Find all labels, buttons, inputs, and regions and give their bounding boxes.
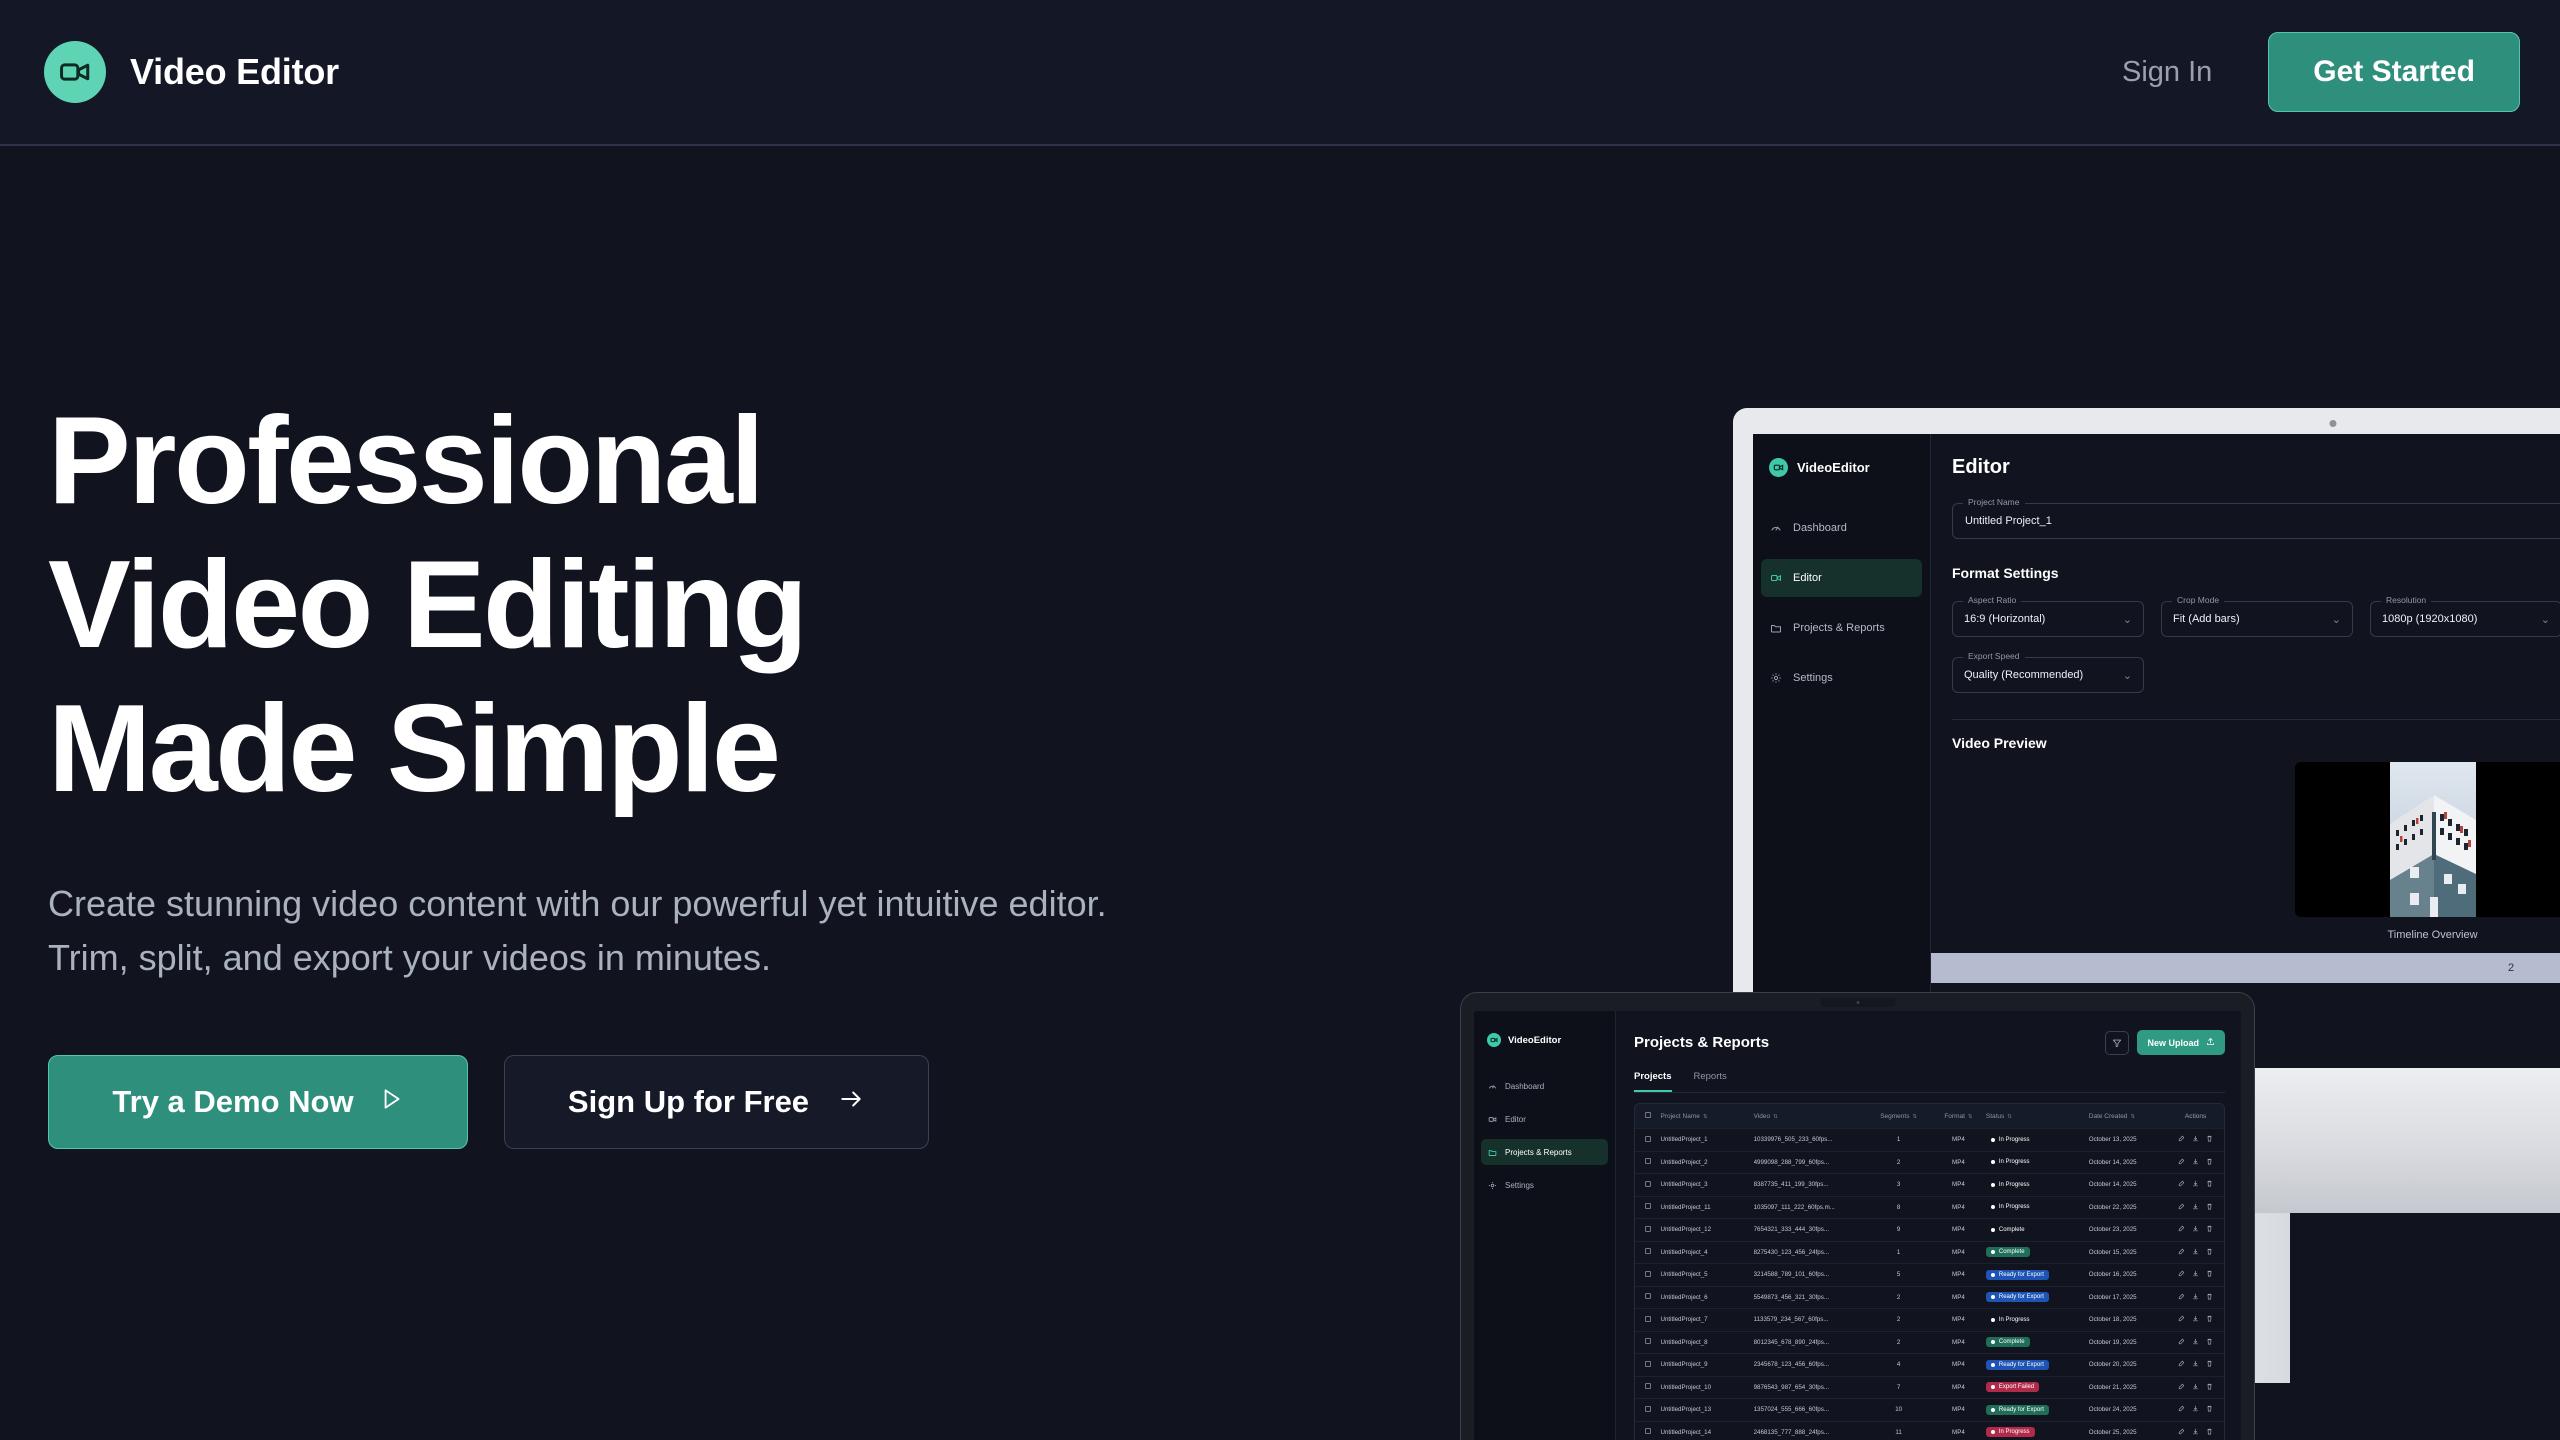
resolution-value: 1080p (1920x1080): [2382, 613, 2477, 625]
table-header-row: Project Name⇅ Video⇅ Segments⇅ Format⇅ S…: [1635, 1104, 2224, 1128]
landing-page: Video Editor Sign In Get Started Profess…: [0, 0, 2560, 1440]
cell-project-name: UntitledProject_2: [1660, 1159, 1753, 1166]
funnel-icon[interactable]: [2105, 1031, 2129, 1055]
cell-segments: 8: [1866, 1204, 1931, 1211]
row-checkbox[interactable]: [1635, 1271, 1660, 1279]
status-badge: In Progress: [1986, 1202, 2035, 1212]
edit-icon[interactable]: [2178, 1248, 2185, 1257]
column-video[interactable]: Video⇅: [1754, 1113, 1867, 1120]
table-row[interactable]: UntitledProject_24999098_288_799_60fps..…: [1635, 1151, 2224, 1174]
download-icon[interactable]: [2192, 1203, 2199, 1212]
cell-actions: [2167, 1360, 2224, 1369]
video-camera-icon: [44, 41, 106, 103]
cell-project-name: UntitledProject_10: [1660, 1384, 1753, 1391]
arrow-right-icon: [837, 1084, 865, 1120]
cell-date-created: October 20, 2025: [2089, 1361, 2167, 1368]
cell-date-created: October 23, 2025: [2089, 1226, 2167, 1233]
column-actions: Actions: [2167, 1113, 2224, 1120]
projects-app-screen: VideoEditor Dashboard Edi: [1474, 1011, 2241, 1440]
editor-page-title: Editor: [1952, 456, 2560, 479]
projects-brand-name: VideoEditor: [1508, 1035, 1561, 1046]
status-badge: Ready for Export: [1986, 1360, 2049, 1370]
sidebar-item-projects-reports[interactable]: Projects & Reports: [1761, 609, 1922, 647]
download-icon[interactable]: [2192, 1135, 2199, 1144]
cell-actions: [2167, 1428, 2224, 1437]
cell-actions: [2167, 1383, 2224, 1392]
cell-actions: [2167, 1405, 2224, 1414]
cell-date-created: October 19, 2025: [2089, 1339, 2167, 1346]
table-row[interactable]: UntitledProject_110339976_505_233_60fps.…: [1635, 1128, 2224, 1151]
cell-format: MP4: [1931, 1294, 1986, 1301]
sidebar-label: Editor: [1793, 572, 1822, 584]
site-header: Video Editor Sign In Get Started: [0, 0, 2560, 146]
sidebar-label: Dashboard: [1793, 522, 1847, 534]
table-row[interactable]: UntitledProject_88012345_678_890_24fps..…: [1635, 1331, 2224, 1354]
sidebar-item-editor[interactable]: Editor: [1761, 559, 1922, 597]
cell-video: 2345678_123_456_60fps...: [1754, 1361, 1867, 1368]
status-badge: In Progress: [1986, 1135, 2035, 1145]
editor-brand: VideoEditor: [1753, 458, 1930, 477]
cell-format: MP4: [1931, 1159, 1986, 1166]
delete-icon[interactable]: [2206, 1248, 2213, 1257]
hero-title-line-1: Professional: [48, 390, 1148, 534]
row-checkbox[interactable]: [1635, 1338, 1660, 1346]
get-started-button[interactable]: Get Started: [2268, 32, 2520, 112]
projects-brand: VideoEditor: [1474, 1033, 1615, 1047]
cell-project-name: UntitledProject_4: [1660, 1249, 1753, 1256]
cell-format: MP4: [1931, 1204, 1986, 1211]
cell-status: In Progress: [1986, 1427, 2089, 1437]
cell-actions: [2167, 1315, 2224, 1324]
sidebar-label: Editor: [1505, 1115, 1526, 1124]
cell-date-created: October 14, 2025: [2089, 1159, 2167, 1166]
header-actions: Sign In Get Started: [2122, 32, 2520, 112]
sort-icon: ⇅: [1912, 1114, 1917, 1120]
video-camera-icon: [1488, 1115, 1497, 1124]
cell-status: Complete: [1986, 1225, 2089, 1235]
sign-up-free-button[interactable]: Sign Up for Free: [504, 1055, 929, 1149]
cell-video: 2468135_777_888_24fps...: [1754, 1429, 1867, 1436]
cell-actions: [2167, 1158, 2224, 1167]
format-settings-row-2: Export Speed Quality (Recommended) ⌄: [1952, 641, 2560, 693]
download-icon[interactable]: [2192, 1270, 2199, 1279]
sidebar-item-dashboard[interactable]: Dashboard: [1761, 509, 1922, 547]
page-title: Professional Video Editing Made Simple: [48, 390, 1148, 821]
cell-video: 8012345_678_890_24fps...: [1754, 1339, 1867, 1346]
projects-sidebar: VideoEditor Dashboard Edi: [1474, 1011, 1616, 1440]
select-all-checkbox[interactable]: [1635, 1112, 1660, 1120]
download-icon[interactable]: [2192, 1158, 2199, 1167]
cell-project-name: UntitledProject_13: [1660, 1406, 1753, 1413]
chevron-down-icon: ⌄: [2541, 613, 2550, 626]
cell-project-name: UntitledProject_1: [1660, 1136, 1753, 1143]
cell-status: In Progress: [1986, 1202, 2089, 1212]
row-checkbox[interactable]: [1635, 1158, 1660, 1166]
projects-tabs: Projects Reports: [1634, 1071, 2225, 1093]
edit-icon[interactable]: [2178, 1203, 2185, 1212]
format-settings-heading: Format Settings: [1952, 565, 2560, 581]
try-demo-button[interactable]: Try a Demo Now: [48, 1055, 468, 1149]
row-checkbox[interactable]: [1635, 1316, 1660, 1324]
delete-icon[interactable]: [2206, 1293, 2213, 1302]
cell-video: 8387735_411_199_30fps...: [1754, 1181, 1867, 1188]
cell-project-name: UntitledProject_9: [1660, 1361, 1753, 1368]
cell-date-created: October 17, 2025: [2089, 1294, 2167, 1301]
project-name-field[interactable]: Project Name Untitled Project_1: [1952, 503, 2560, 539]
table-row[interactable]: UntitledProject_109876543_987_654_30fps.…: [1635, 1376, 2224, 1399]
download-icon[interactable]: [2192, 1180, 2199, 1189]
cell-status: In Progress: [1986, 1315, 2089, 1325]
download-icon[interactable]: [2192, 1383, 2199, 1392]
project-name-label: Project Name: [1963, 497, 2025, 507]
hero-cta-group: Try a Demo Now Sign Up for Free: [48, 1055, 1148, 1149]
cell-video: 4999098_288_799_60fps...: [1754, 1159, 1867, 1166]
sign-in-button[interactable]: Sign In: [2122, 56, 2212, 89]
download-icon[interactable]: [2192, 1360, 2199, 1369]
sidebar-item-settings[interactable]: Settings: [1481, 1172, 1608, 1198]
table-row[interactable]: UntitledProject_48275430_123_456_24fps..…: [1635, 1241, 2224, 1264]
laptop-lid: VideoEditor Dashboard Edi: [1460, 992, 2255, 1440]
editor-app-screen: VideoEditor Dashboard Editor: [1753, 434, 2560, 1068]
brand-logo[interactable]: Video Editor: [44, 41, 339, 103]
row-checkbox[interactable]: [1635, 1428, 1660, 1436]
cell-segments: 2: [1866, 1316, 1931, 1323]
download-icon[interactable]: [2192, 1293, 2199, 1302]
delete-icon[interactable]: [2206, 1383, 2213, 1392]
cell-actions: [2167, 1203, 2224, 1212]
cell-actions: [2167, 1248, 2224, 1257]
edit-icon[interactable]: [2178, 1270, 2185, 1279]
status-badge: Ready for Export: [1986, 1292, 2049, 1302]
status-badge: Export Failed: [1986, 1382, 2039, 1392]
cell-video: 5549873_456_321_30fps...: [1754, 1294, 1867, 1301]
gauge-icon: [1488, 1082, 1497, 1091]
sort-icon: ⇅: [2130, 1114, 2135, 1120]
cell-actions: [2167, 1135, 2224, 1144]
cell-video: 8275430_123_456_24fps...: [1754, 1249, 1867, 1256]
video-camera-icon: [1487, 1033, 1501, 1047]
cell-video: 1357024_555_666_60fps...: [1754, 1406, 1867, 1413]
hero-title-line-3: Made Simple: [48, 678, 1148, 822]
monitor-camera-dot: [2330, 420, 2337, 427]
crop-mode-value: Fit (Add bars): [2173, 613, 2240, 625]
sort-icon: ⇅: [1703, 1114, 1708, 1120]
delete-icon[interactable]: [2206, 1158, 2213, 1167]
delete-icon[interactable]: [2206, 1135, 2213, 1144]
row-checkbox[interactable]: [1635, 1406, 1660, 1414]
sidebar-label: Settings: [1505, 1181, 1534, 1190]
cell-format: MP4: [1931, 1249, 1986, 1256]
download-icon[interactable]: [2192, 1338, 2199, 1347]
folder-icon: [1770, 622, 1782, 634]
cell-status: Export Failed: [1986, 1382, 2089, 1392]
export-speed-label: Export Speed: [1963, 651, 2025, 661]
crop-mode-select[interactable]: Crop Mode Fit (Add bars) ⌄: [2161, 601, 2353, 637]
resolution-select[interactable]: Resolution 1080p (1920x1080) ⌄: [2370, 601, 2560, 637]
sidebar-label: Dashboard: [1505, 1082, 1544, 1091]
projects-header: Projects & Reports New Upload: [1634, 1030, 2225, 1055]
cell-project-name: UntitledProject_5: [1660, 1271, 1753, 1278]
delete-icon[interactable]: [2206, 1203, 2213, 1212]
cell-video: 9876543_987_654_30fps...: [1754, 1384, 1867, 1391]
chevron-down-icon: ⌄: [2332, 613, 2341, 626]
table-row[interactable]: UntitledProject_111035097_111_222_60fps.…: [1635, 1196, 2224, 1219]
cell-actions: [2167, 1270, 2224, 1279]
download-icon[interactable]: [2192, 1248, 2199, 1257]
cell-segments: 2: [1866, 1339, 1931, 1346]
format-settings-row-1: Aspect Ratio 16:9 (Horizontal) ⌄ Crop Mo…: [1952, 585, 2560, 637]
sidebar-item-editor[interactable]: Editor: [1481, 1106, 1608, 1132]
resolution-label: Resolution: [2381, 595, 2431, 605]
hero-title-line-2: Video Editing: [48, 534, 1148, 678]
status-badge: Complete: [1986, 1247, 2030, 1257]
table-row[interactable]: UntitledProject_127654321_333_444_30fps.…: [1635, 1218, 2224, 1241]
cell-segments: 3: [1866, 1181, 1931, 1188]
edit-icon[interactable]: [2178, 1180, 2185, 1189]
column-date-created[interactable]: Date Created⇅: [2089, 1113, 2167, 1120]
sort-icon: ⇅: [1773, 1114, 1778, 1120]
editor-brand-name: VideoEditor: [1797, 460, 1870, 475]
timeline-bar[interactable]: 2: [1931, 953, 2560, 983]
delete-icon[interactable]: [2206, 1315, 2213, 1324]
cell-status: Ready for Export: [1986, 1405, 2089, 1415]
delete-icon[interactable]: [2206, 1180, 2213, 1189]
download-icon[interactable]: [2192, 1405, 2199, 1414]
cell-segments: 7: [1866, 1384, 1931, 1391]
row-checkbox[interactable]: [1635, 1226, 1660, 1234]
tab-projects[interactable]: Projects: [1634, 1071, 1672, 1092]
cell-status: In Progress: [1986, 1180, 2089, 1190]
cell-status: Ready for Export: [1986, 1292, 2089, 1302]
cell-format: MP4: [1931, 1339, 1986, 1346]
device-mockups: VideoEditor Dashboard Editor: [1350, 380, 2560, 1280]
delete-icon[interactable]: [2206, 1270, 2213, 1279]
status-badge: Ready for Export: [1986, 1405, 2049, 1415]
sidebar-item-dashboard[interactable]: Dashboard: [1481, 1073, 1608, 1099]
projects-page-title: Projects & Reports: [1634, 1034, 1769, 1051]
projects-table: Project Name⇅ Video⇅ Segments⇅ Format⇅ S…: [1634, 1103, 2225, 1440]
chevron-down-icon: ⌄: [2123, 669, 2132, 682]
video-camera-icon: [1770, 572, 1782, 584]
table-row[interactable]: UntitledProject_53214588_789_101_60fps..…: [1635, 1263, 2224, 1286]
edit-icon[interactable]: [2178, 1383, 2185, 1392]
row-checkbox[interactable]: [1635, 1136, 1660, 1144]
row-checkbox[interactable]: [1635, 1248, 1660, 1256]
status-badge: In Progress: [1986, 1315, 2035, 1325]
cell-format: MP4: [1931, 1361, 1986, 1368]
projects-header-actions: New Upload: [2105, 1030, 2225, 1055]
monitor-mockup: VideoEditor Dashboard Editor: [1733, 408, 2560, 1068]
cell-date-created: October 15, 2025: [2089, 1249, 2167, 1256]
cell-date-created: October 21, 2025: [2089, 1384, 2167, 1391]
edit-icon[interactable]: [2178, 1428, 2185, 1437]
cell-format: MP4: [1931, 1226, 1986, 1233]
row-checkbox[interactable]: [1635, 1361, 1660, 1369]
cell-segments: 2: [1866, 1294, 1931, 1301]
video-preview-stage: [2295, 762, 2560, 917]
laptop-mockup: VideoEditor Dashboard Edi: [1460, 992, 2255, 1440]
cell-format: MP4: [1931, 1316, 1986, 1323]
video-frame-thumbnail: [2390, 762, 2476, 917]
gauge-icon: [1770, 522, 1782, 534]
row-checkbox[interactable]: [1635, 1203, 1660, 1211]
cell-date-created: October 24, 2025: [2089, 1406, 2167, 1413]
cell-status: In Progress: [1986, 1135, 2089, 1145]
chevron-down-icon: ⌄: [2123, 613, 2132, 626]
delete-icon[interactable]: [2206, 1225, 2213, 1234]
gear-icon: [1770, 672, 1782, 684]
hero-section: Professional Video Editing Made Simple C…: [48, 390, 1148, 1149]
cell-date-created: October 22, 2025: [2089, 1204, 2167, 1211]
aspect-ratio-value: 16:9 (Horizontal): [1964, 613, 2045, 625]
column-format[interactable]: Format⇅: [1931, 1113, 1986, 1120]
crop-mode-label: Crop Mode: [2172, 595, 2224, 605]
aspect-ratio-select[interactable]: Aspect Ratio 16:9 (Horizontal) ⌄: [1952, 601, 2144, 637]
cell-video: 1035097_111_222_60fps.m...: [1754, 1204, 1867, 1211]
cell-format: MP4: [1931, 1384, 1986, 1391]
delete-icon[interactable]: [2206, 1428, 2213, 1437]
try-demo-label: Try a Demo Now: [112, 1084, 353, 1120]
editor-main: Editor Save Export Project Name Untitled…: [1931, 434, 2560, 1068]
cell-segments: 10: [1866, 1406, 1931, 1413]
cell-video: 7654321_333_444_30fps...: [1754, 1226, 1867, 1233]
cell-actions: [2167, 1180, 2224, 1189]
table-row[interactable]: UntitledProject_38387735_411_199_30fps..…: [1635, 1173, 2224, 1196]
sign-up-label: Sign Up for Free: [568, 1084, 809, 1120]
edit-icon[interactable]: [2178, 1338, 2185, 1347]
table-row[interactable]: UntitledProject_92345678_123_456_60fps..…: [1635, 1353, 2224, 1376]
cell-status: Ready for Export: [1986, 1270, 2089, 1280]
cell-segments: 11: [1866, 1429, 1931, 1436]
sidebar-label: Settings: [1793, 672, 1833, 684]
aspect-ratio-label: Aspect Ratio: [1963, 595, 2021, 605]
cell-format: MP4: [1931, 1136, 1986, 1143]
video-preview-header: Video Preview Video player size: [1952, 735, 2560, 751]
editor-sidebar: VideoEditor Dashboard Editor: [1753, 434, 1931, 1068]
gear-icon: [1488, 1181, 1497, 1190]
cell-segments: 1: [1866, 1249, 1931, 1256]
cell-format: MP4: [1931, 1181, 1986, 1188]
cell-status: Ready for Export: [1986, 1360, 2089, 1370]
sidebar-label: Projects & Reports: [1505, 1148, 1572, 1157]
download-icon[interactable]: [2192, 1225, 2199, 1234]
project-name-value: Untitled Project_1: [1965, 515, 2052, 527]
edit-icon[interactable]: [2178, 1360, 2185, 1369]
cell-actions: [2167, 1338, 2224, 1347]
cell-segments: 1: [1866, 1136, 1931, 1143]
cell-actions: [2167, 1293, 2224, 1302]
export-speed-select[interactable]: Export Speed Quality (Recommended) ⌄: [1952, 657, 2144, 693]
sidebar-label: Projects & Reports: [1793, 622, 1885, 634]
table-row[interactable]: UntitledProject_65549873_456_321_30fps..…: [1635, 1286, 2224, 1309]
hero-subtitle: Create stunning video content with our p…: [48, 877, 1108, 985]
cell-segments: 9: [1866, 1226, 1931, 1233]
edit-icon[interactable]: [2178, 1158, 2185, 1167]
new-upload-label: New Upload: [2147, 1038, 2199, 1048]
column-project-name[interactable]: Project Name⇅: [1660, 1113, 1753, 1120]
table-row[interactable]: UntitledProject_142468135_777_888_24fps.…: [1635, 1421, 2224, 1440]
delete-icon[interactable]: [2206, 1360, 2213, 1369]
upload-icon: [2206, 1037, 2215, 1048]
column-segments[interactable]: Segments⇅: [1866, 1113, 1931, 1120]
sidebar-item-projects-reports[interactable]: Projects & Reports: [1481, 1139, 1608, 1165]
cell-project-name: UntitledProject_3: [1660, 1181, 1753, 1188]
cell-segments: 5: [1866, 1271, 1931, 1278]
column-status[interactable]: Status⇅: [1986, 1113, 2089, 1120]
cell-date-created: October 13, 2025: [2089, 1136, 2167, 1143]
edit-icon[interactable]: [2178, 1225, 2185, 1234]
row-checkbox[interactable]: [1635, 1181, 1660, 1189]
table-row[interactable]: UntitledProject_71133579_234_567_60fps..…: [1635, 1308, 2224, 1331]
table-body: UntitledProject_110339976_505_233_60fps.…: [1635, 1128, 2224, 1440]
brand-name: Video Editor: [130, 51, 339, 93]
video-preview-heading: Video Preview: [1952, 735, 2047, 751]
edit-icon[interactable]: [2178, 1315, 2185, 1324]
cell-status: Complete: [1986, 1247, 2089, 1257]
cell-status: In Progress: [1986, 1157, 2089, 1167]
cell-project-name: UntitledProject_6: [1660, 1294, 1753, 1301]
download-icon[interactable]: [2192, 1315, 2199, 1324]
export-speed-value: Quality (Recommended): [1964, 669, 2083, 681]
cell-project-name: UntitledProject_14: [1660, 1429, 1753, 1436]
cell-project-name: UntitledProject_8: [1660, 1339, 1753, 1346]
cell-video: 1133579_234_567_60fps...: [1754, 1316, 1867, 1323]
table-row[interactable]: UntitledProject_131357024_555_666_60fps.…: [1635, 1398, 2224, 1421]
cell-project-name: UntitledProject_11: [1660, 1204, 1753, 1211]
cell-actions: [2167, 1225, 2224, 1234]
cell-video: 3214588_789_101_60fps...: [1754, 1271, 1867, 1278]
video-camera-icon: [1769, 458, 1788, 477]
status-badge: Complete: [1986, 1337, 2030, 1347]
sort-icon: ⇅: [1968, 1114, 1973, 1120]
timeline-overview-label: Timeline Overview: [1952, 929, 2560, 941]
section-divider: [1952, 719, 2560, 720]
cell-date-created: October 14, 2025: [2089, 1181, 2167, 1188]
folder-icon: [1488, 1148, 1497, 1157]
cell-segments: 2: [1866, 1159, 1931, 1166]
status-badge: In Progress: [1986, 1180, 2035, 1190]
play-icon: [378, 1084, 404, 1120]
cell-date-created: October 25, 2025: [2089, 1429, 2167, 1436]
cell-segments: 4: [1866, 1361, 1931, 1368]
edit-icon[interactable]: [2178, 1405, 2185, 1414]
cell-status: Complete: [1986, 1337, 2089, 1347]
cell-date-created: October 16, 2025: [2089, 1271, 2167, 1278]
sort-icon: ⇅: [2007, 1114, 2012, 1120]
download-icon[interactable]: [2192, 1428, 2199, 1437]
delete-icon[interactable]: [2206, 1338, 2213, 1347]
laptop-camera: [1820, 998, 1895, 1007]
status-badge: Ready for Export: [1986, 1270, 2049, 1280]
cell-date-created: October 18, 2025: [2089, 1316, 2167, 1323]
status-badge: In Progress: [1986, 1427, 2035, 1437]
cell-format: MP4: [1931, 1406, 1986, 1413]
sidebar-item-settings[interactable]: Settings: [1761, 659, 1922, 697]
edit-icon[interactable]: [2178, 1293, 2185, 1302]
row-checkbox[interactable]: [1635, 1383, 1660, 1391]
cell-project-name: UntitledProject_12: [1660, 1226, 1753, 1233]
projects-main: Projects & Reports New Upload: [1616, 1011, 2241, 1440]
new-upload-button[interactable]: New Upload: [2137, 1030, 2225, 1055]
edit-icon[interactable]: [2178, 1135, 2185, 1144]
status-badge: In Progress: [1986, 1157, 2035, 1167]
delete-icon[interactable]: [2206, 1405, 2213, 1414]
status-badge: Complete: [1986, 1225, 2030, 1235]
cell-format: MP4: [1931, 1429, 1986, 1436]
cell-video: 10339976_505_233_60fps...: [1754, 1136, 1867, 1143]
row-checkbox[interactable]: [1635, 1293, 1660, 1301]
tab-reports[interactable]: Reports: [1694, 1071, 1727, 1092]
